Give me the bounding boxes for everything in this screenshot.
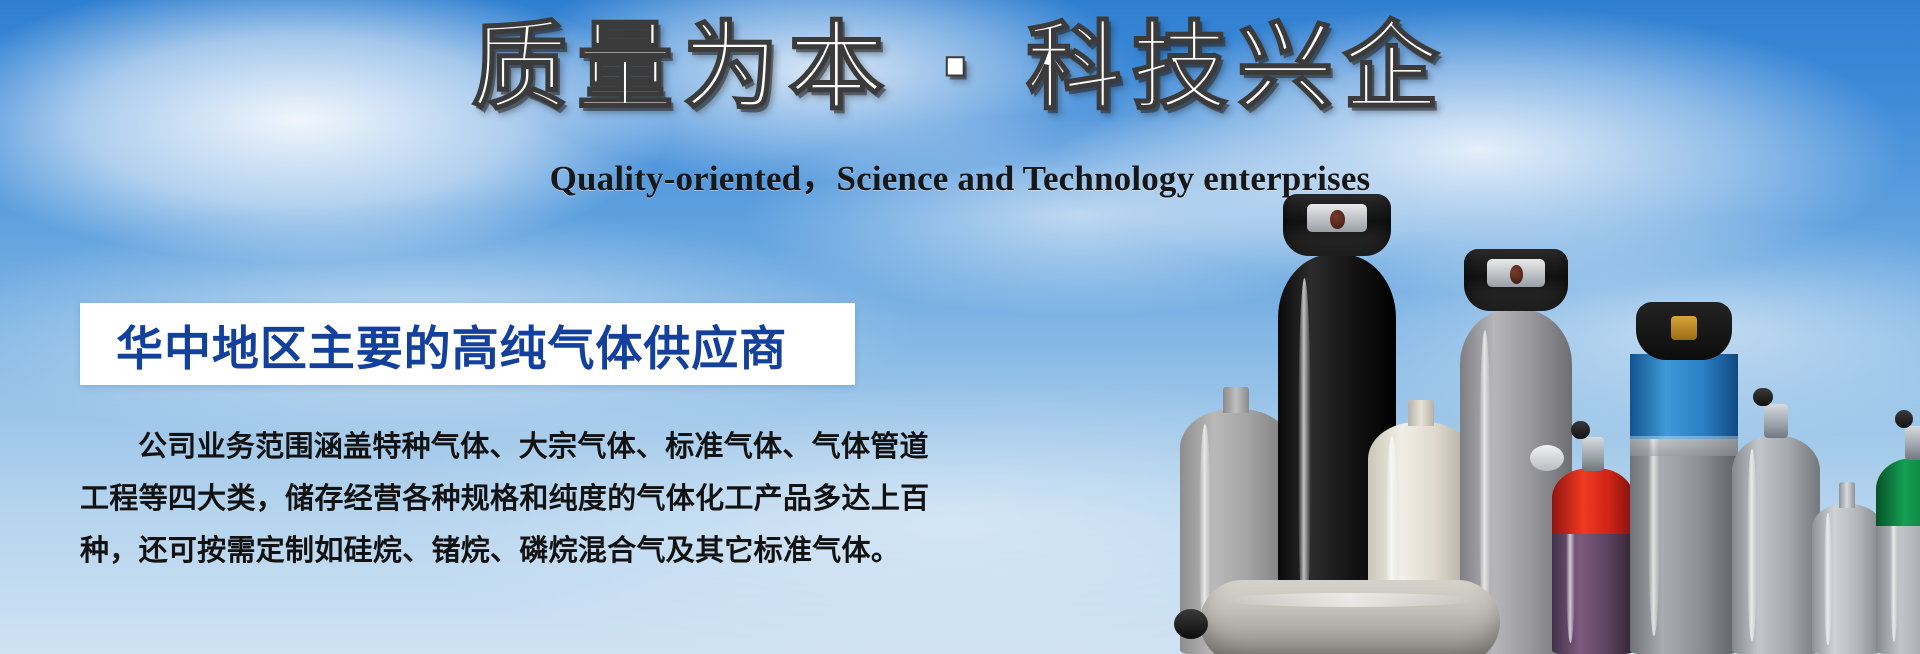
cylinder-valve [1582, 437, 1605, 471]
pressure-gauge-icon [1530, 445, 1564, 471]
cylinder-valve [1905, 426, 1920, 460]
cylinder-lying-grey [1200, 580, 1500, 654]
cylinder-red-purple [1552, 469, 1634, 654]
hero-banner: 质量为本 · 科技兴企 Quality-oriented，Science and… [0, 0, 1920, 654]
brass-valve-icon [1671, 316, 1697, 340]
cylinder-guard-cap [1464, 249, 1567, 311]
paragraph-line: 公司业务范围涵盖特种气体、大宗气体、标准气体、气体管道 [80, 420, 870, 472]
slogan-text: 华中地区主要的高纯气体供应商 [80, 310, 787, 379]
cylinder-side-knob-icon [1174, 609, 1208, 639]
cylinder-aluminium-small [1812, 504, 1882, 654]
cylinder-guard-cap [1283, 194, 1392, 256]
cylinder-green-shoulder [1876, 458, 1920, 654]
paragraph-line: 种，还可按需定制如硅烷、锗烷、磷烷混合气及其它标准气体。 [80, 524, 870, 576]
description-paragraph: 公司业务范围涵盖特种气体、大宗气体、标准气体、气体管道 工程等四大类，储存经营各… [80, 420, 870, 576]
gas-cylinder-group-image [1160, 54, 1920, 654]
slogan-box: 华中地区主要的高纯气体供应商 [80, 303, 855, 385]
paragraph-line: 工程等四大类，储存经营各种规格和纯度的气体化工产品多达上百 [80, 472, 870, 524]
